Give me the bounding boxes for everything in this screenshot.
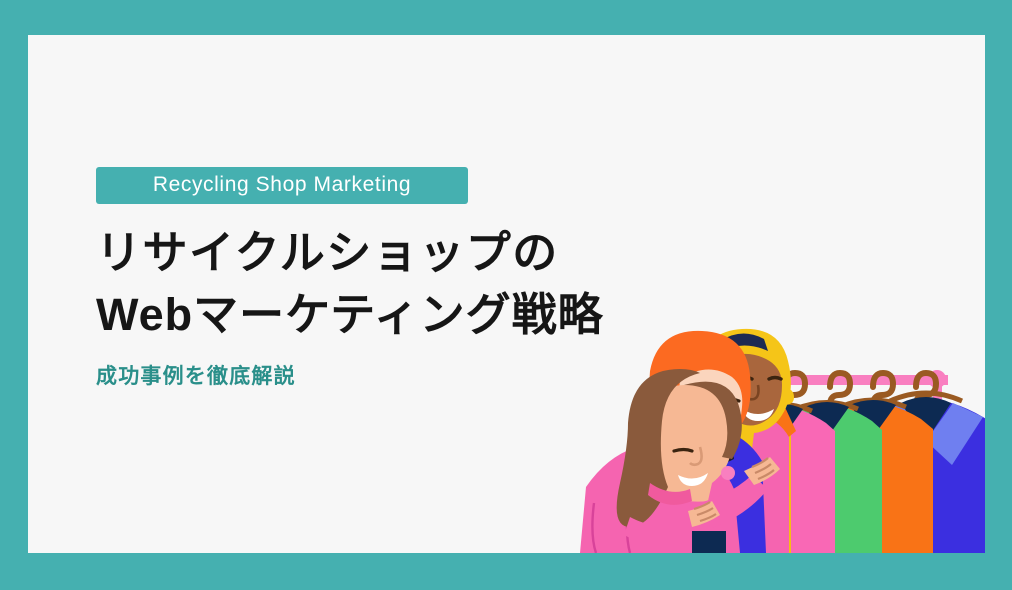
garment-yellow: [688, 405, 796, 553]
trousers-navy: [692, 531, 726, 553]
banner: Recycling Shop Marketing リサイクルショップの Webマ…: [0, 0, 1012, 590]
hair-brown: [617, 369, 700, 527]
garment-green: [770, 402, 882, 553]
garment-magenta-held: [654, 413, 754, 553]
garment-orange: [811, 400, 933, 553]
garment-blue: [843, 393, 985, 553]
eyebrow-badge: Recycling Shop Marketing: [96, 167, 468, 204]
page-title-line2: Webマーケティング戦略: [96, 284, 716, 346]
page-subtitle: 成功事例を徹底解説: [96, 360, 716, 390]
price-tag-blue: [874, 473, 893, 505]
rack-pole: [933, 375, 942, 553]
wrist-band: [721, 466, 735, 480]
hand-upper: [744, 457, 780, 485]
page-title: リサイクルショップの Webマーケティング戦略: [96, 222, 716, 346]
text-block: Recycling Shop Marketing リサイクルショップの Webマ…: [96, 167, 716, 390]
woman-brown-hair: [580, 369, 780, 553]
rack-rail: [733, 375, 948, 385]
banner-card: Recycling Shop Marketing リサイクルショップの Webマ…: [28, 35, 985, 553]
rack-pole-cap: [928, 370, 946, 388]
choker: [674, 447, 734, 467]
hand-lower: [688, 501, 720, 527]
garment-pink: [728, 404, 835, 553]
hanger-hooks: [740, 373, 936, 411]
page-title-line1: リサイクルショップの: [96, 222, 716, 284]
price-tag-magenta: [710, 465, 732, 503]
